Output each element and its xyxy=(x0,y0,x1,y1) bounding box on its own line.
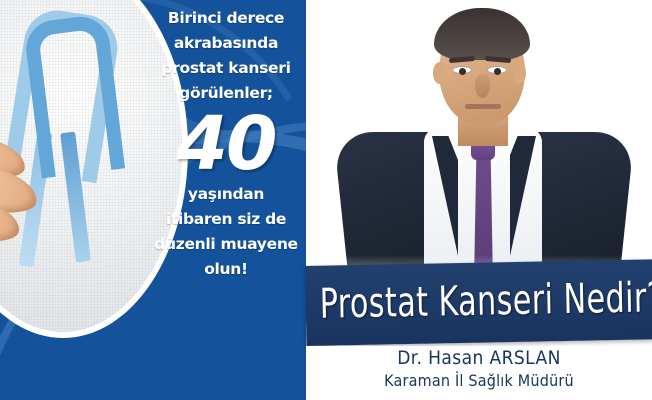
title-banner: Prostat Kanseri Nedir? xyxy=(305,259,652,346)
message-line-7: düzenli muayene xyxy=(150,232,302,257)
hair xyxy=(434,8,530,60)
blue-info-panel: Birinci derece akrabasında prostat kanse… xyxy=(0,0,306,400)
speaker-role: Karaman İl Sağlık Müdürü xyxy=(306,370,652,391)
doctor-portrait xyxy=(306,0,652,300)
pupil-right xyxy=(494,68,501,75)
message-line-8: olun! xyxy=(150,257,302,282)
message-line-5: yaşından xyxy=(150,182,302,207)
speaker-caption: Dr. Hasan ARSLAN Karaman İl Sağlık Müdür… xyxy=(306,346,652,400)
pupil-left xyxy=(459,68,466,75)
message-line-6: itibaren siz de xyxy=(150,207,302,232)
banner-headline: Prostat Kanseri Nedir? xyxy=(319,268,652,333)
hand-icon xyxy=(0,134,72,284)
message-line-3: prostat kanseri xyxy=(150,56,302,81)
message-line-2: akrabasında xyxy=(150,31,302,56)
ear-right xyxy=(513,62,526,84)
message-line-1: Birinci derece xyxy=(150,6,302,31)
mouth xyxy=(465,104,501,109)
age-number: 40 xyxy=(150,108,302,180)
nose xyxy=(475,74,490,98)
ear-left xyxy=(433,62,446,84)
health-awareness-poster: Birinci derece akrabasında prostat kanse… xyxy=(0,0,652,400)
awareness-message: Birinci derece akrabasında prostat kanse… xyxy=(150,6,302,282)
speaker-name: Dr. Hasan ARSLAN xyxy=(306,346,652,370)
